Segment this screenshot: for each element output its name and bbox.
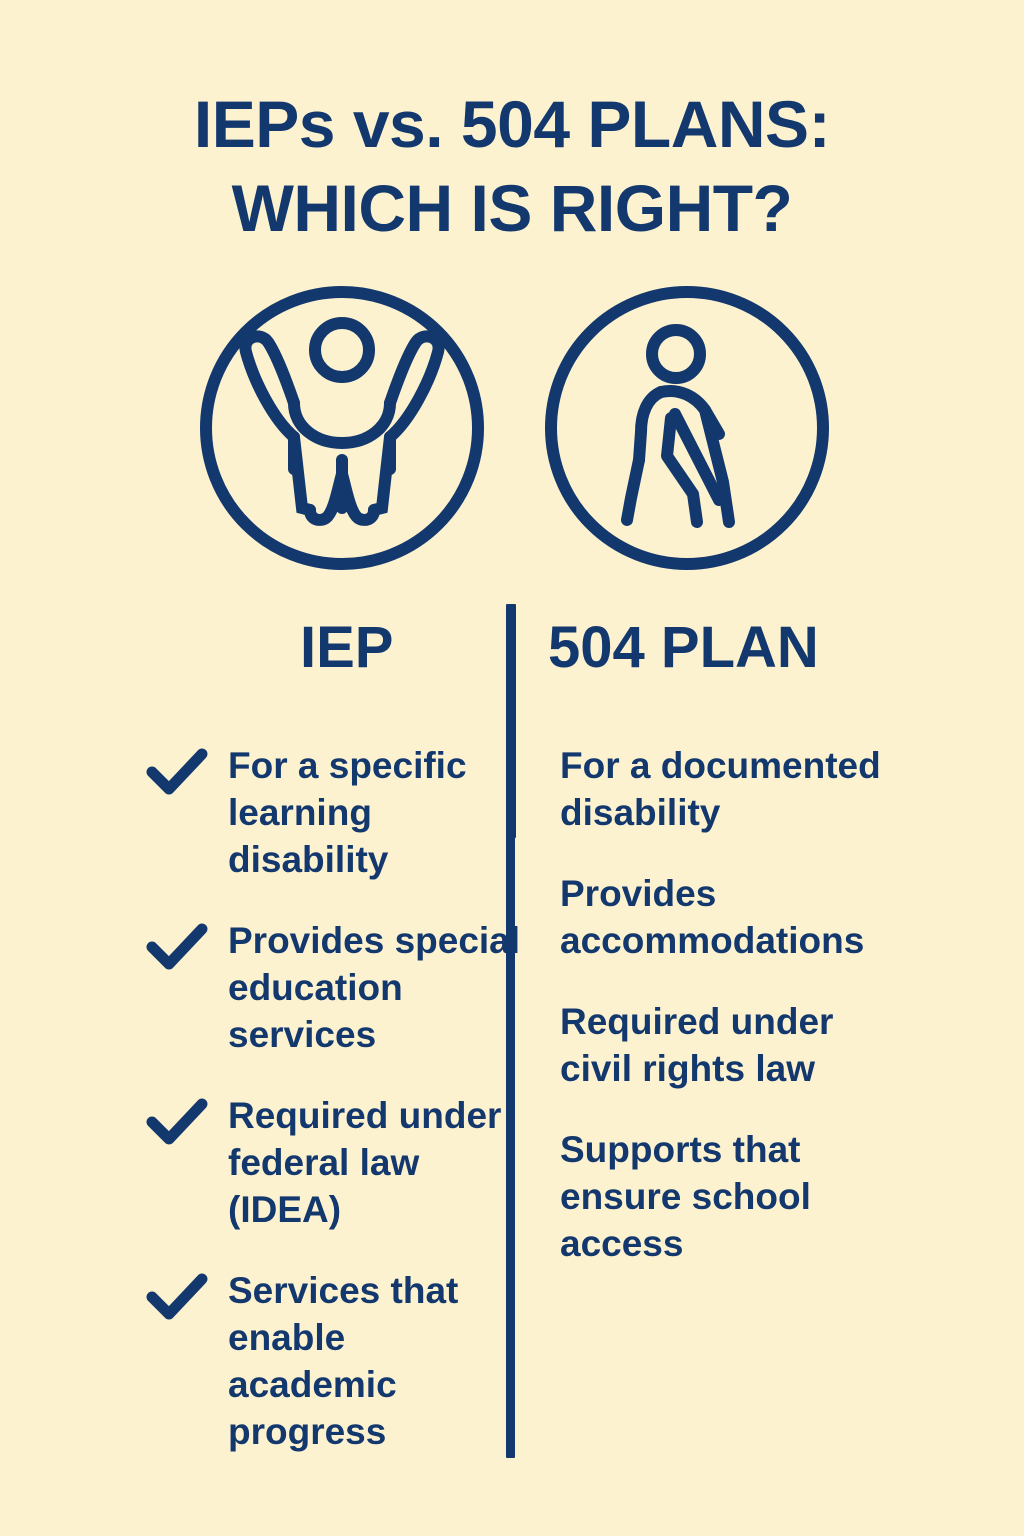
- iep-feature-list: For a specific learning disability Provi…: [146, 742, 516, 1489]
- child-arms-raised-icon: [198, 282, 486, 574]
- check-icon: [146, 748, 208, 796]
- infographic-poster: IEPs vs. 504 PLANS: WHICH IS RIGHT?: [0, 0, 1024, 1536]
- list-item-label: For a specific learning disability: [228, 742, 598, 883]
- list-item-label: For a documented disability: [560, 742, 960, 836]
- list-item-label: Supports that ensure school access: [560, 1126, 960, 1267]
- list-item: For a specific learning disability: [146, 742, 516, 883]
- list-item: Services that enable academic progress: [146, 1267, 516, 1455]
- list-item: Provides special education services: [146, 917, 516, 1058]
- list-item-label: Required under federal law (IDEA): [228, 1092, 598, 1233]
- heading-iep: IEP: [300, 612, 394, 684]
- list-item: Provides accommodations: [560, 870, 960, 964]
- list-item-label: Required under civil rights law: [560, 998, 960, 1092]
- list-item-label: Provides special education services: [228, 917, 598, 1058]
- plan504-icon-badge: [543, 282, 831, 574]
- check-icon: [146, 1273, 208, 1321]
- person-with-cane-icon: [543, 282, 831, 574]
- list-item: Required under civil rights law: [560, 998, 960, 1092]
- iep-icon-badge: [198, 282, 486, 574]
- list-item: Supports that ensure school access: [560, 1126, 960, 1267]
- plan504-feature-list: For a documented disability Provides acc…: [560, 742, 960, 1301]
- check-icon: [146, 923, 208, 971]
- list-item-label: Provides accommodations: [560, 870, 960, 964]
- list-item: For a documented disability: [560, 742, 960, 836]
- list-item: Required under federal law (IDEA): [146, 1092, 516, 1233]
- page-title-line-2: WHICH IS RIGHT?: [0, 166, 1024, 250]
- check-icon: [146, 1098, 208, 1146]
- page-title: IEPs vs. 504 PLANS: WHICH IS RIGHT?: [0, 82, 1024, 251]
- list-item-label: Services that enable academic progress: [228, 1267, 598, 1455]
- icon-row: [0, 282, 1024, 582]
- heading-504-plan: 504 PLAN: [548, 612, 819, 684]
- column-headings: IEP 504 PLAN: [0, 612, 1024, 692]
- page-title-line-1: IEPs vs. 504 PLANS:: [0, 82, 1024, 166]
